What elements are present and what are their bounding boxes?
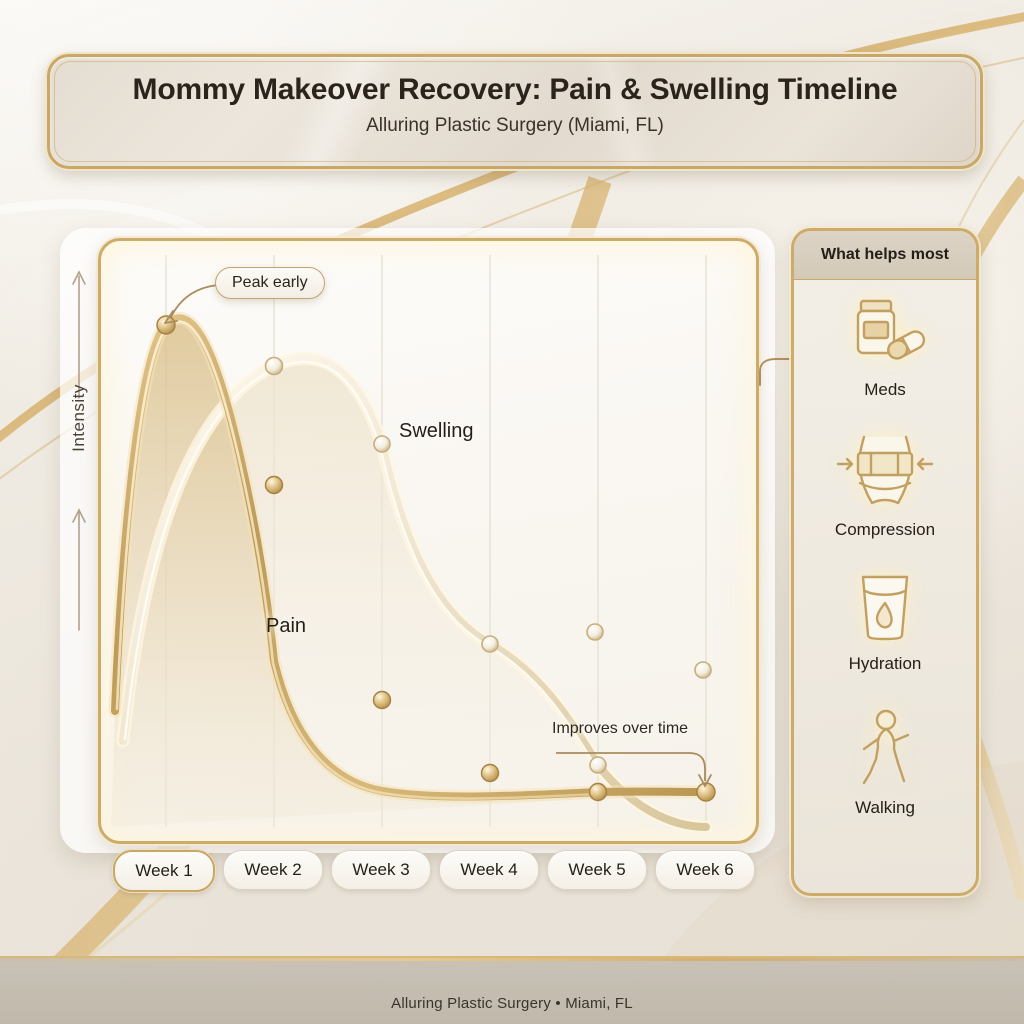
week-tabs[interactable]: Week 1 Week 2 Week 3 Week 4 Week 5 Week … (113, 850, 755, 892)
page-title: Mommy Makeover Recovery: Pain & Swelling… (50, 73, 980, 107)
sidebar-item-label-hydration: Hydration (849, 654, 922, 674)
week-tab-1[interactable]: Week 1 (113, 850, 215, 892)
y-axis: Intensity (62, 258, 96, 648)
sidebar-item-hydration[interactable]: Hydration (794, 569, 976, 674)
sidebar-item-label-meds: Meds (864, 380, 906, 400)
week-tab-6[interactable]: Week 6 (655, 850, 755, 890)
sidebar-item-label-compression: Compression (835, 520, 935, 540)
page-subtitle: Alluring Plastic Surgery (Miami, FL) (50, 115, 980, 137)
week-tab-4[interactable]: Week 4 (439, 850, 539, 890)
tips-sidebar: What helps most Meds (791, 228, 979, 896)
swelling-series-label: Swelling (399, 420, 473, 443)
plot-area (101, 241, 756, 841)
sidebar-item-compression[interactable]: Compression (794, 431, 976, 540)
water-glass-icon (849, 569, 921, 648)
sidebar-item-meds[interactable]: Meds (794, 293, 976, 400)
week-tab-5[interactable]: Week 5 (547, 850, 647, 890)
pill-bottle-icon (839, 293, 931, 374)
chart-panel (98, 238, 759, 844)
week-tab-3[interactable]: Week 3 (331, 850, 431, 890)
peak-early-badge: Peak early (215, 267, 325, 299)
footer-gold-rule (0, 958, 1024, 961)
sidebar-item-label-walking: Walking (855, 798, 915, 818)
compression-garment-icon (830, 431, 940, 514)
title-banner: Mommy Makeover Recovery: Pain & Swelling… (47, 54, 983, 169)
sidebar-item-walking[interactable]: Walking (794, 709, 976, 818)
pain-series-label: Pain (266, 615, 306, 638)
sidebar-header-label: What helps most (821, 246, 949, 264)
walking-person-icon (850, 709, 920, 792)
footer-text: Alluring Plastic Surgery • Miami, FL (0, 995, 1024, 1012)
y-axis-label: Intensity (69, 373, 89, 463)
improves-over-time-label: Improves over time (552, 720, 688, 738)
footer-band (0, 956, 1024, 1024)
week-tab-2[interactable]: Week 2 (223, 850, 323, 890)
sidebar-header: What helps most (794, 231, 976, 280)
